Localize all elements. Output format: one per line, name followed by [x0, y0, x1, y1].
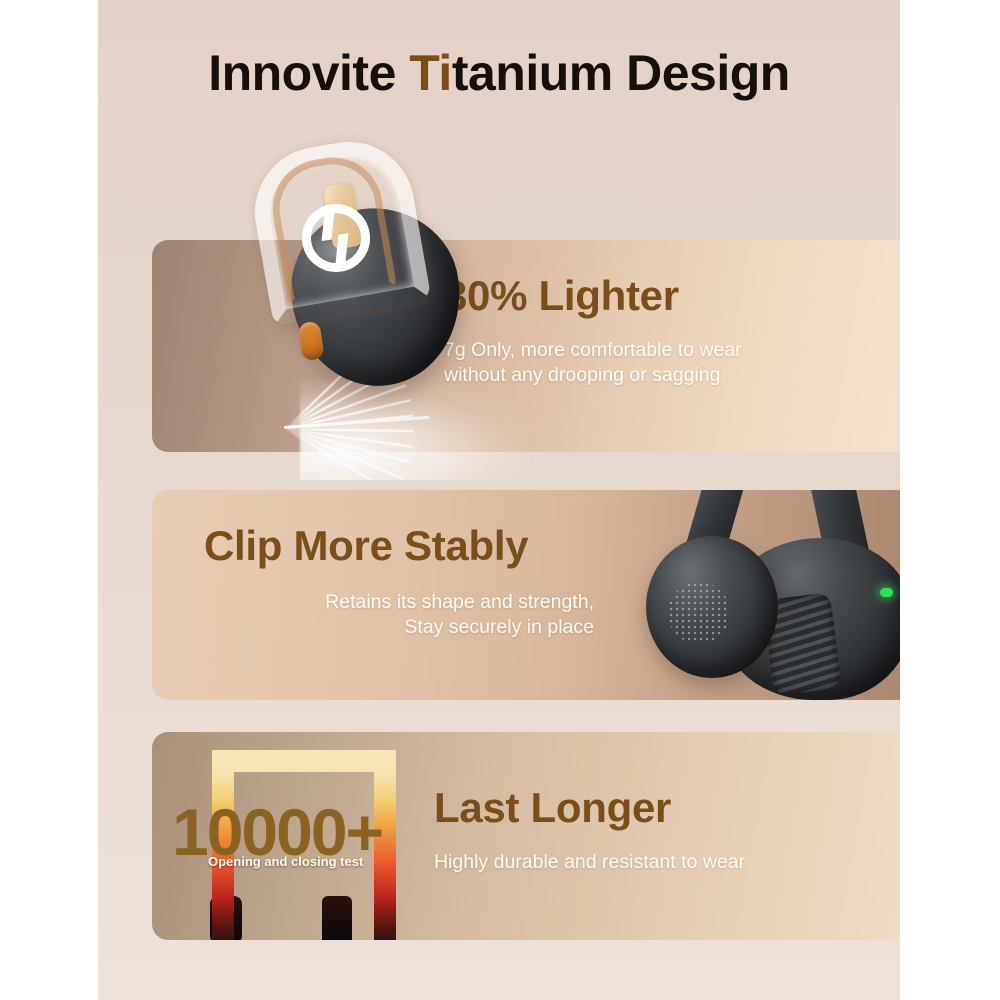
page-title-accent: Ti: [409, 45, 452, 101]
page-title: Innovite Titanium Design: [98, 44, 900, 102]
card-subline-line-1: Retains its shape and strength,: [204, 590, 594, 615]
feature-card-lighter: 30% Lighter 7g Only, more comfortable to…: [152, 240, 900, 452]
feature-card-durability: 10000+ Opening and closing test Last Lon…: [152, 732, 900, 940]
card-subline-line-1: 7g Only, more comfortable to wear: [444, 338, 742, 363]
page-title-part-1: Innovite: [208, 45, 409, 101]
card-subline-line-2: Stay securely in place: [204, 615, 594, 640]
card-subline: 7g Only, more comfortable to wear withou…: [444, 338, 742, 388]
product-feature-page: Innovite Titanium Design 30% Lighter 7g …: [0, 0, 1000, 1000]
card-subline: Highly durable and resistant to wear: [434, 850, 745, 875]
feature-card-clip: Clip More Stably Retains its shape and s…: [152, 490, 900, 700]
durability-count-caption: Opening and closing test: [208, 854, 363, 869]
card-headline: 30% Lighter: [444, 272, 679, 320]
card-headline: Last Longer: [434, 784, 671, 832]
card-subline-line-2: without any drooping or sagging: [444, 363, 742, 388]
card-headline: Clip More Stably: [204, 522, 528, 570]
card-subline: Retains its shape and strength, Stay sec…: [204, 590, 594, 640]
card-subline-line-1: Highly durable and resistant to wear: [434, 850, 745, 875]
page-title-part-2: tanium Design: [452, 45, 790, 101]
content-panel: Innovite Titanium Design 30% Lighter 7g …: [98, 0, 900, 1000]
